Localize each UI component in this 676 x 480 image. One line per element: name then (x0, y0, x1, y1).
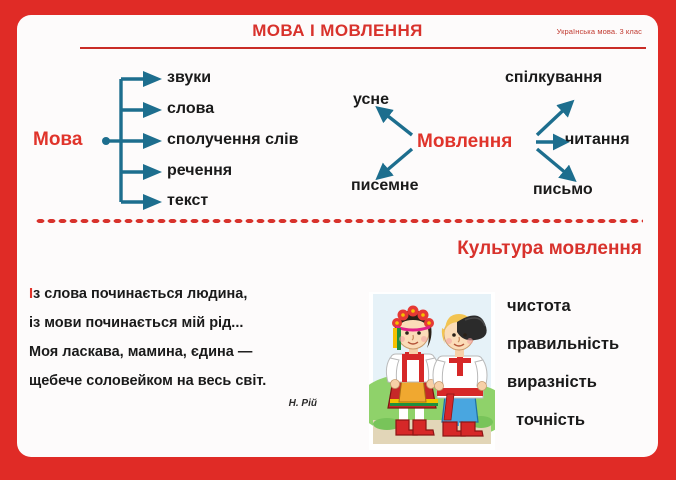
mova-branch-slova: слова (167, 100, 214, 118)
header-divider-rule (80, 47, 646, 49)
poem-block: Із слова починається людина, із мови поч… (29, 280, 349, 409)
subject-label: Українська мова. 3 клас (557, 27, 642, 36)
speech-quality-list: чистота правильність виразність точність (507, 287, 657, 439)
mova-branch-tekst: текст (167, 192, 208, 210)
poem-author: Н. Рій (29, 398, 349, 409)
quality-item-tochnist: точність (507, 401, 657, 439)
header: МОВА І МОВЛЕННЯ Українська мова. 3 клас (17, 15, 658, 53)
poem-line-2: із мови починається мій рід... (29, 309, 349, 338)
movlennia-branch-usne: усне (353, 91, 389, 109)
poem-line-1: Із слова починається людина, (29, 280, 349, 309)
content-card: МОВА І МОВЛЕННЯ Українська мова. 3 клас (17, 15, 658, 457)
children-illustration-svg (369, 292, 495, 450)
movlennia-branch-spilkuvannia: спілкування (505, 69, 602, 87)
poem-line-1-rest: з слова починається людина, (33, 286, 247, 302)
movlennia-branch-pysemne: писемне (351, 177, 418, 195)
diagram-movlennia: Мовлення усне писемне спілкування читанн… (337, 53, 658, 218)
diagram-mova: Мова звуки слова сполучення слів речення… (17, 53, 337, 218)
mova-root-label: Мова (33, 129, 82, 151)
poster-root: МОВА І МОВЛЕННЯ Українська мова. 3 клас (0, 0, 676, 480)
poem-line-3: Моя ласкава, мамина, єдина — (29, 338, 349, 367)
mova-branch-zvuky: звуки (167, 69, 211, 87)
dotted-divider (35, 218, 643, 228)
movlennia-root-label: Мовлення (417, 131, 512, 153)
illustration-two-children (369, 292, 495, 450)
movlennia-branch-chytannia: читання (565, 131, 630, 149)
footer-credit-strip (16, 462, 636, 473)
quality-item-vyraznist: виразність (507, 363, 657, 401)
quality-item-pravylnist: правильність (507, 325, 657, 363)
movlennia-branch-pysmo: письмо (533, 181, 593, 199)
mova-branch-spoluchennia-sliv: сполучення слів (167, 131, 298, 149)
culture-section-heading: Культура мовлення (457, 238, 642, 260)
poem-line-4: щебече соловейком на весь світ. (29, 367, 349, 396)
quality-item-chystota: чистота (507, 287, 657, 325)
mova-branch-rechennia: речення (167, 162, 232, 180)
